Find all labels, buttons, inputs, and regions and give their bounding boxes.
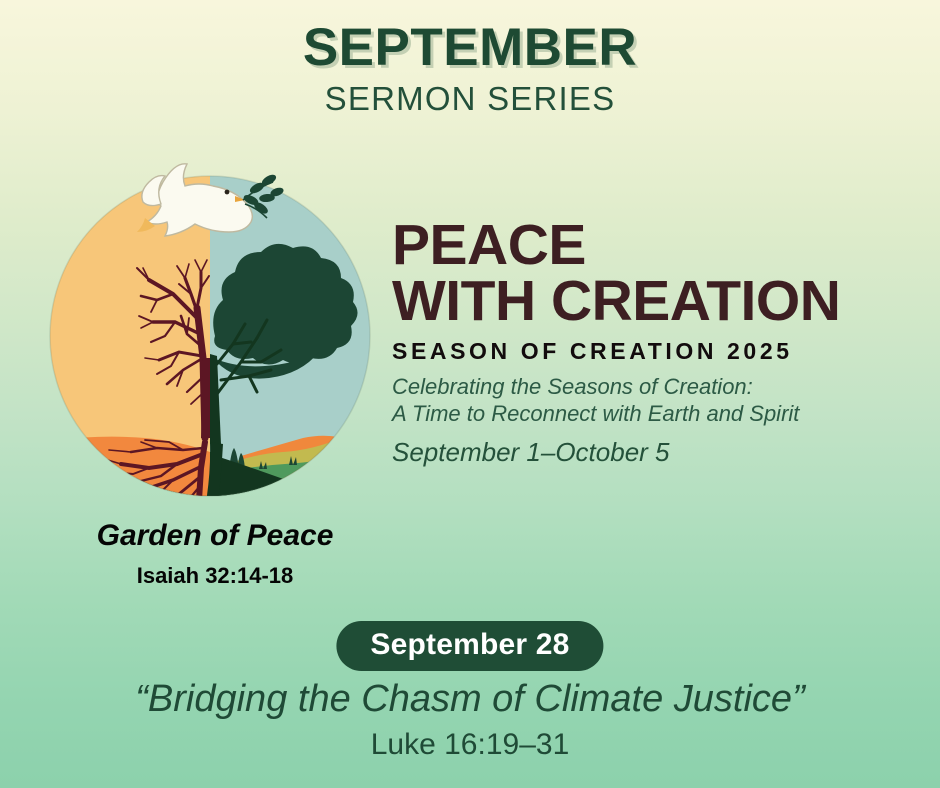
subtitle-line-1: Celebrating the Seasons of Creation:: [392, 373, 912, 400]
sermon-date-badge: September 28: [336, 621, 603, 671]
series-theme-title: Garden of Peace: [0, 519, 430, 553]
split-tree-circle-illustration: [45, 108, 375, 500]
sermon-scripture: Luke 16:19–31: [0, 728, 940, 762]
sermon-series-poster: SEPTEMBER SERMON SERIES: [0, 0, 940, 788]
soil-cracks: [59, 460, 115, 500]
title-block: PEACE WITH CREATION SEASON OF CREATION 2…: [392, 218, 912, 468]
title-line-1: PEACE: [392, 218, 912, 274]
poster-month-heading: SEPTEMBER: [0, 20, 940, 76]
dove-eye: [225, 190, 230, 195]
season-date-range: September 1–October 5: [392, 437, 912, 468]
title-line-2: WITH CREATION: [392, 274, 912, 330]
season-label: SEASON OF CREATION 2025: [392, 339, 912, 364]
sermon-title: “Bridging the Chasm of Climate Justice”: [0, 678, 940, 721]
series-theme-scripture: Isaiah 32:14-18: [0, 563, 430, 589]
subtitle-line-2: A Time to Reconnect with Earth and Spiri…: [392, 400, 912, 427]
